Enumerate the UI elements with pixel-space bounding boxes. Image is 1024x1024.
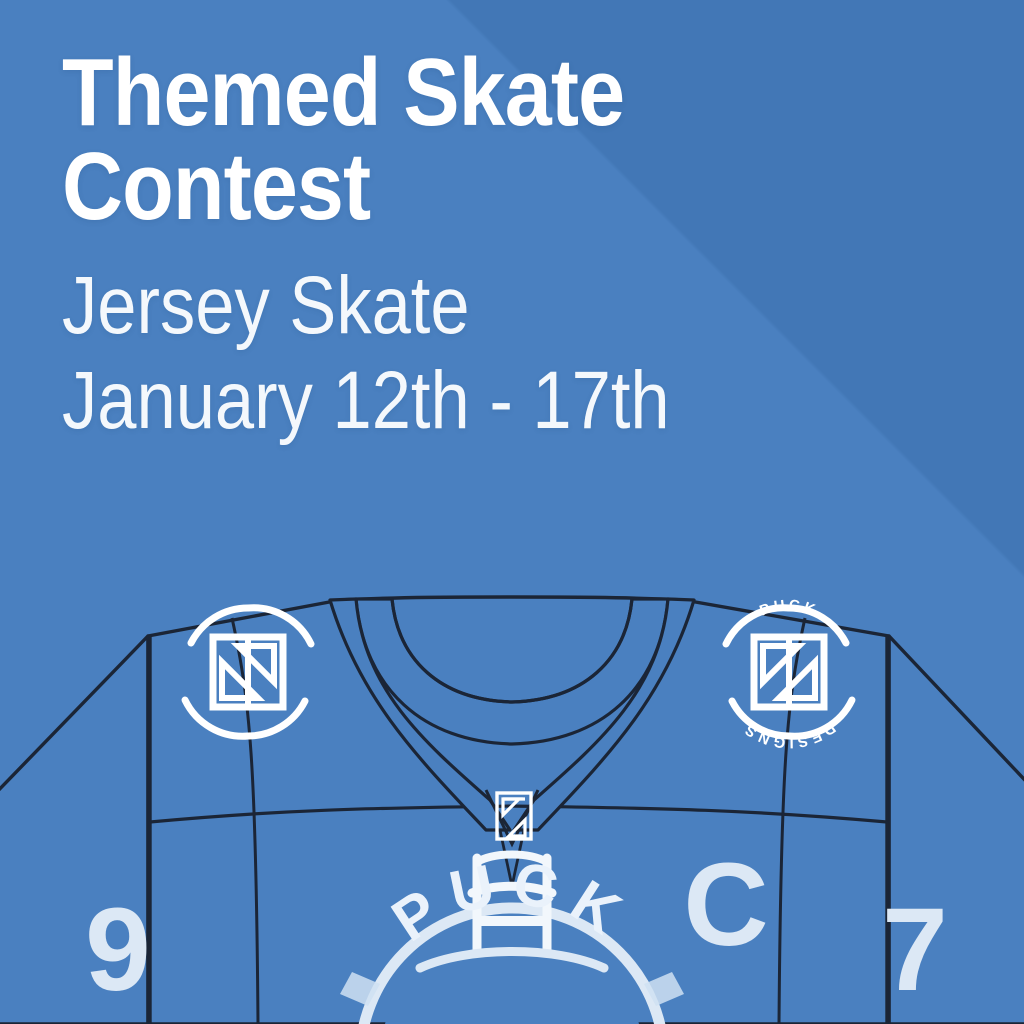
page-subtitle: Jersey Skate January 12th - 17th [62, 234, 819, 448]
left-sleeve-number: 9 [85, 884, 151, 1016]
right-sleeve-number: 7 [882, 884, 948, 1016]
svg-text:PUCK: PUCK [757, 597, 820, 620]
shoulder-patch-right-top-text: PUCK [757, 597, 820, 620]
page-title: Themed Skate Contest [62, 46, 836, 234]
captain-letter: C [683, 839, 768, 971]
headline-block: Themed Skate Contest Jersey Skate Januar… [62, 46, 942, 448]
poster-canvas: PUCK DESIGNS PUCK DESI [0, 0, 1024, 1024]
